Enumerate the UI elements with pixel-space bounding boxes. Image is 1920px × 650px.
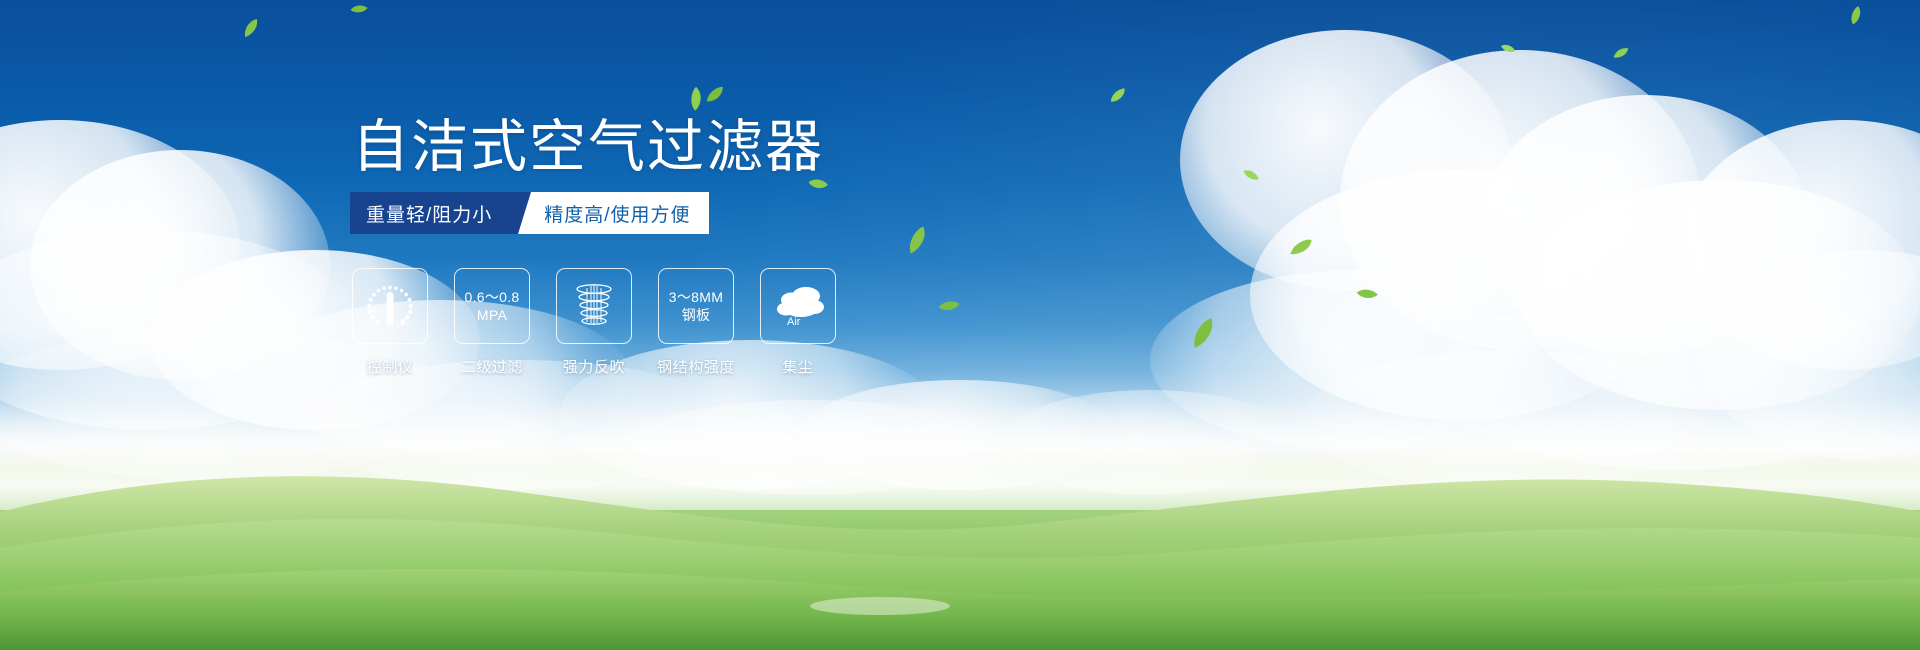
banner-content: 自洁式空气过滤器 重量轻/阻力小 精度高/使用方便 <box>0 0 1920 650</box>
feature-box-steel: 3～8MM 钢板 <box>658 268 734 344</box>
product-banner: 自洁式空气过滤器 重量轻/阻力小 精度高/使用方便 <box>0 0 1920 650</box>
air-label-text: Air <box>787 316 801 328</box>
feature-label-steel-strength: 钢结构强度 <box>657 356 735 377</box>
tagline-row: 重量轻/阻力小 精度高/使用方便 <box>350 192 709 234</box>
page-title: 自洁式空气过滤器 <box>352 116 824 178</box>
feature-icon-row: NO OFF 控制仪 0.6～0.8 MPA 二级过滤 <box>352 268 836 377</box>
feature-item: 强力反吹 <box>556 268 632 377</box>
gauge-dial-icon: NO OFF <box>363 281 417 331</box>
pressure-value-text: 0.6～0.8 <box>464 288 519 306</box>
feature-label-two-stage-filtration: 二级过滤 <box>461 356 523 377</box>
feature-item: Air 集尘 <box>760 268 836 377</box>
air-cloud-icon: Air <box>770 283 826 329</box>
feature-box-controller: NO OFF <box>352 268 428 344</box>
feature-item: 0.6～0.8 MPA 二级过滤 <box>454 268 530 377</box>
pressure-unit-text: MPA <box>477 306 507 324</box>
gauge-min-label: NO <box>369 308 378 314</box>
feature-label-strong-backblow: 强力反吹 <box>563 356 625 377</box>
feature-box-pressure: 0.6～0.8 MPA <box>454 268 530 344</box>
feature-label-controller: 控制仪 <box>367 356 414 377</box>
tag-weight-resistance: 重量轻/阻力小 <box>350 192 518 234</box>
feature-item: 3～8MM 钢板 钢结构强度 <box>658 268 734 377</box>
feature-box-dust: Air <box>760 268 836 344</box>
feature-label-dust-collection: 集尘 <box>782 356 813 377</box>
filter-cartridge-icon <box>568 280 620 332</box>
tag-precision-convenience: 精度高/使用方便 <box>516 192 708 234</box>
gauge-max-label: OFF <box>397 323 409 329</box>
steel-material-text: 钢板 <box>682 306 711 324</box>
feature-box-backblow <box>556 268 632 344</box>
steel-thickness-text: 3～8MM <box>669 288 723 306</box>
feature-item: NO OFF 控制仪 <box>352 268 428 377</box>
